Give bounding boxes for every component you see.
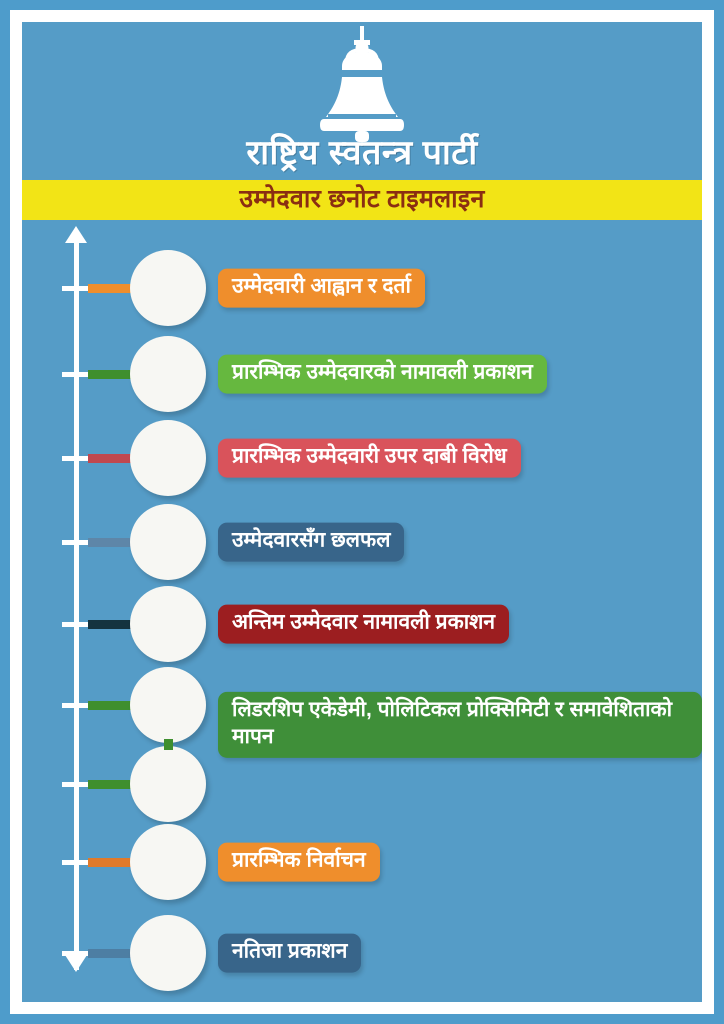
step-label-pill[interactable]: प्रारम्भिक निर्वाचन — [218, 843, 380, 882]
step-node-circle[interactable] — [130, 420, 206, 496]
infographic-poster: राष्ट्रिय स्वतन्त्र पार्टी उम्मेदवार छनो… — [0, 0, 724, 1024]
step-node-circle[interactable] — [130, 667, 206, 743]
axis-tick — [62, 372, 90, 377]
axis-tick — [62, 782, 90, 787]
axis-tick — [62, 622, 90, 627]
axis-tick — [62, 703, 90, 708]
step-label-pill[interactable]: लिडरशिप एकेडेमी, पोलिटिकल प्रोक्सिमिटी र… — [218, 692, 702, 758]
axis-tick — [62, 540, 90, 545]
timeline: उम्मेदवारी आह्वान र दर्ताप्रारम्भिक उम्म… — [22, 222, 702, 1002]
poster-frame: राष्ट्रिय स्वतन्त्र पार्टी उम्मेदवार छनो… — [10, 10, 714, 1014]
step-node-circle[interactable] — [130, 824, 206, 900]
step-node-circle[interactable] — [130, 746, 206, 822]
arrow-down-icon — [65, 955, 87, 972]
axis-tick — [62, 456, 90, 461]
step-label-pill[interactable]: प्रारम्भिक उम्मेदवारको नामावली प्रकाशन — [218, 355, 547, 394]
step-label-pill[interactable]: उम्मेदवारी आह्वान र दर्ता — [218, 269, 425, 308]
node-vertical-link — [164, 739, 173, 750]
poster-stage: राष्ट्रिय स्वतन्त्र पार्टी उम्मेदवार छनो… — [22, 22, 702, 1002]
step-node-circle[interactable] — [130, 915, 206, 991]
page-title: राष्ट्रिय स्वतन्त्र पार्टी — [22, 134, 702, 173]
axis-tick — [62, 286, 90, 291]
banner: उम्मेदवार छनोट टाइमलाइन — [22, 180, 702, 220]
step-label-pill[interactable]: उम्मेदवारसँग छलफल — [218, 523, 404, 562]
step-label-pill[interactable]: अन्तिम उम्मेदवार नामावली प्रकाशन — [218, 605, 509, 644]
step-node-circle[interactable] — [130, 250, 206, 326]
step-label-pill[interactable]: प्रारम्भिक उम्मेदवारी उपर दाबी विरोध — [218, 439, 521, 478]
axis-tick — [62, 951, 90, 956]
arrow-up-icon — [65, 226, 87, 243]
step-node-circle[interactable] — [130, 336, 206, 412]
party-logo — [22, 26, 702, 142]
step-label-pill[interactable]: नतिजा प्रकाशन — [218, 934, 361, 973]
axis-tick — [62, 860, 90, 865]
bell-icon — [297, 26, 427, 142]
step-node-circle[interactable] — [130, 586, 206, 662]
banner-title: उम्मेदवार छनोट टाइमलाइन — [239, 187, 484, 212]
step-node-circle[interactable] — [130, 504, 206, 580]
